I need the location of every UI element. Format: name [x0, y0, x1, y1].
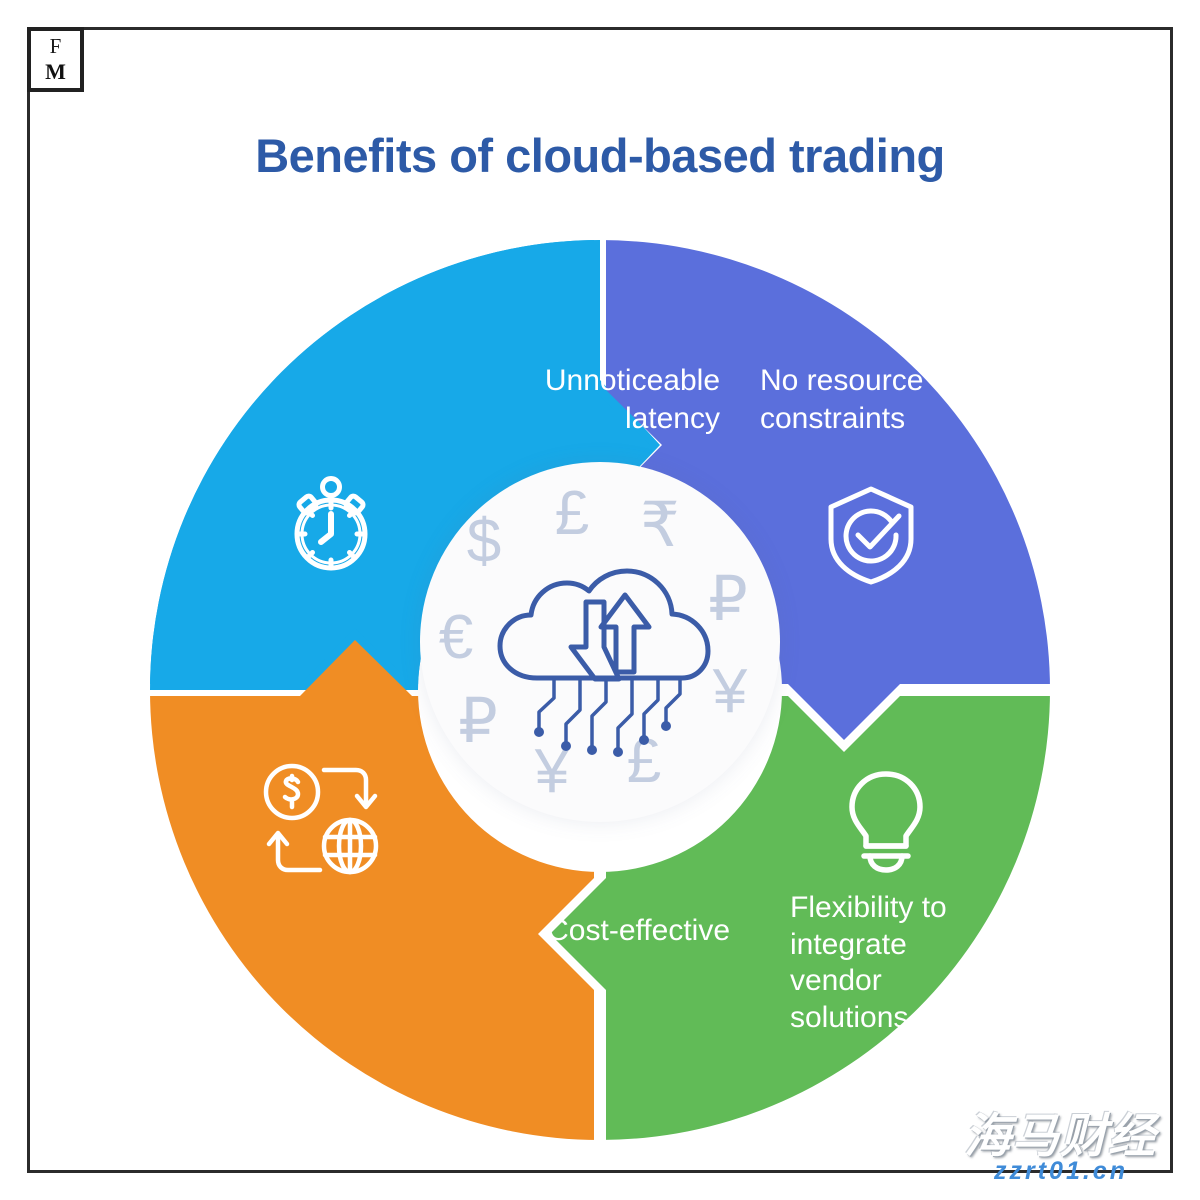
- center-hub: $ £ ₹ ₽ ¥ £ ¥ ₽ €: [420, 462, 780, 822]
- lightbulb-icon: [840, 768, 932, 881]
- logo-letter-f: F: [50, 36, 62, 57]
- stopwatch-icon: [283, 472, 379, 581]
- cloud-data-transfer-icon: $ £ ₹ ₽ ¥ £ ¥ ₽ €: [420, 462, 780, 822]
- segment-label-cost-effective: Cost-effective: [300, 912, 730, 950]
- currency-symbol: ₽: [458, 687, 497, 756]
- currency-symbol: $: [467, 507, 501, 576]
- currency-symbol: ₹: [640, 491, 679, 560]
- shield-check-icon: [823, 483, 919, 592]
- watermark-brand: 海马财经: [935, 1097, 1185, 1166]
- logo-letter-m: M: [45, 61, 66, 83]
- watermark-url: zzrt01.cn: [930, 1157, 1192, 1186]
- watermark: 海马财经 zzrt01.cn: [930, 1095, 1192, 1195]
- currency-symbol: £: [555, 479, 589, 548]
- currency-symbol: ₽: [708, 565, 747, 634]
- currency-symbol: €: [439, 603, 473, 672]
- cycle-diagram: Unnoticeable latency No resource constra…: [150, 240, 1050, 1140]
- segment-label-no-resource-constraints: No resource constraints: [760, 362, 1140, 439]
- currency-symbol: ¥: [712, 657, 748, 726]
- page-title: Benefits of cloud-based trading: [0, 128, 1200, 183]
- segment-label-unnoticeable-latency: Unnoticeable latency: [340, 362, 720, 439]
- money-exchange-icon: [258, 760, 386, 887]
- fm-logo: F M: [27, 27, 84, 92]
- segment-label-flexibility-integrate-vendor-solutions: Flexibility to integrate vendor solution…: [790, 890, 1120, 1036]
